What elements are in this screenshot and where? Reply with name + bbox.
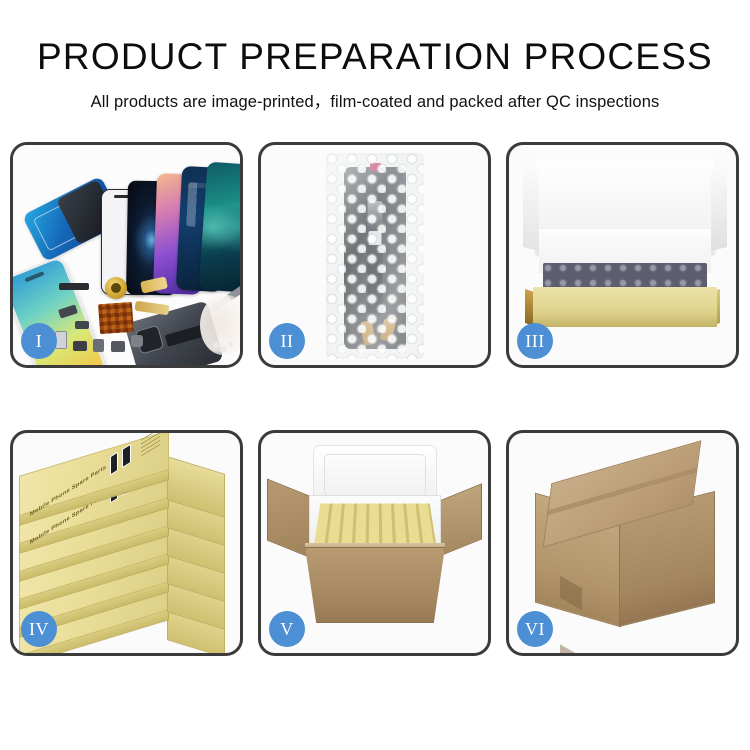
page-title: PRODUCT PREPARATION PROCESS [0,0,750,75]
step-badge-4: IV [21,611,57,647]
process-step-panel-3: III [506,142,739,368]
phone-thumbnail-icon [122,443,130,467]
small-part-icon [93,339,104,352]
process-step-panel-6: VI [506,430,739,656]
step-badge-2: II [269,323,305,359]
hand-blur [200,295,240,355]
connector-grid-icon [98,302,134,334]
process-step-panel-5: V [258,430,491,656]
page-subtitle: All products are image-printed，film-coat… [0,75,750,112]
small-part-icon [75,321,89,329]
process-step-grid: I II [10,142,740,690]
process-step-panel-2: II [258,142,491,368]
plastic-sheen [326,153,424,359]
box-front-panel [533,313,717,327]
step-badge-5: V [269,611,305,647]
coil-part-icon [105,277,127,299]
process-step-panel-1: I [10,142,243,368]
carton-front-panel [305,547,445,623]
step-badge-3: III [517,323,553,359]
header: PRODUCT PREPARATION PROCESS All products… [0,0,750,112]
small-part-icon [73,341,87,351]
infographic-page: PRODUCT PREPARATION PROCESS All products… [0,0,750,750]
small-part-icon [131,335,143,347]
step-badge-1: I [21,323,57,359]
step-badge-6: VI [517,611,553,647]
speaker-part-icon [59,283,89,290]
process-step-panel-4: Mobile Phone Spare Parts Mobile Phone Sp… [10,430,243,656]
small-part-icon [111,341,125,352]
bubble-wrap-bag [326,153,424,359]
phone-thumbnail-icon [110,451,118,475]
spec-lines [141,433,160,457]
